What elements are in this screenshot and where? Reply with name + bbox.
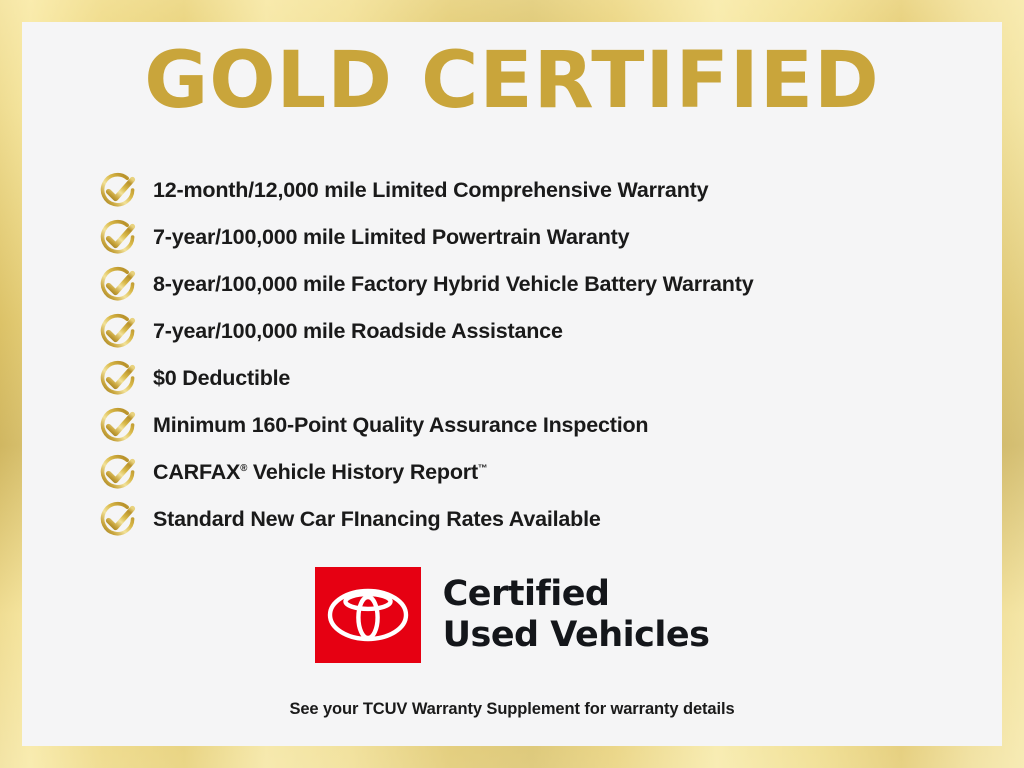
toyota-wordmark: Certified Used Vehicles — [443, 574, 710, 655]
list-item: Standard New Car FInancing Rates Availab… — [96, 496, 1002, 543]
toyota-badge — [315, 567, 421, 663]
list-item: Minimum 160-Point Quality Assurance Insp… — [96, 402, 1002, 449]
gold-check-circle-icon — [96, 498, 140, 542]
list-item: 12-month/12,000 mile Limited Comprehensi… — [96, 167, 1002, 214]
trademark-mark: ™ — [478, 463, 487, 474]
gold-check-circle-icon — [96, 169, 140, 213]
gold-check-circle-icon — [96, 404, 140, 448]
list-item: CARFAX® Vehicle History Report™ — [96, 449, 1002, 496]
list-item-label: 8-year/100,000 mile Factory Hybrid Vehic… — [153, 274, 753, 296]
list-item-label: Minimum 160-Point Quality Assurance Insp… — [153, 415, 648, 437]
list-item: 7-year/100,000 mile Limited Powertrain W… — [96, 214, 1002, 261]
footnote-text: See your TCUV Warranty Supplement for wa… — [22, 700, 1002, 719]
list-item: 7-year/100,000 mile Roadside Assistance — [96, 308, 1002, 355]
list-item-label: 12-month/12,000 mile Limited Comprehensi… — [153, 180, 708, 202]
carfax-wordmark: CARFAX — [153, 460, 240, 484]
page-title: GOLD CERTIFIED — [22, 42, 1002, 120]
gold-check-circle-icon — [96, 357, 140, 401]
toyota-certified-used-vehicles-logo: Certified Used Vehicles — [22, 567, 1002, 663]
benefits-list: 12-month/12,000 mile Limited Comprehensi… — [96, 167, 1002, 543]
gold-border-frame: GOLD CERTIFIED — [0, 0, 1024, 768]
list-item-label-carfax: CARFAX® Vehicle History Report™ — [153, 462, 487, 484]
list-item-label: 7-year/100,000 mile Roadside Assistance — [153, 321, 563, 343]
toyota-wordmark-line1: Certified — [443, 574, 710, 615]
certificate-card: GOLD CERTIFIED — [22, 22, 1002, 746]
gold-check-circle-icon — [96, 263, 140, 307]
gold-check-circle-icon — [96, 310, 140, 354]
carfax-descriptor: Vehicle History Report — [247, 460, 478, 484]
list-item: $0 Deductible — [96, 355, 1002, 402]
gold-check-circle-icon — [96, 216, 140, 260]
list-item-label: $0 Deductible — [153, 368, 290, 390]
gold-check-circle-icon — [96, 451, 140, 495]
list-item: 8-year/100,000 mile Factory Hybrid Vehic… — [96, 261, 1002, 308]
toyota-wordmark-line2: Used Vehicles — [443, 615, 710, 656]
list-item-label: Standard New Car FInancing Rates Availab… — [153, 509, 601, 531]
list-item-label: 7-year/100,000 mile Limited Powertrain W… — [153, 227, 629, 249]
toyota-emblem-icon — [327, 586, 409, 644]
